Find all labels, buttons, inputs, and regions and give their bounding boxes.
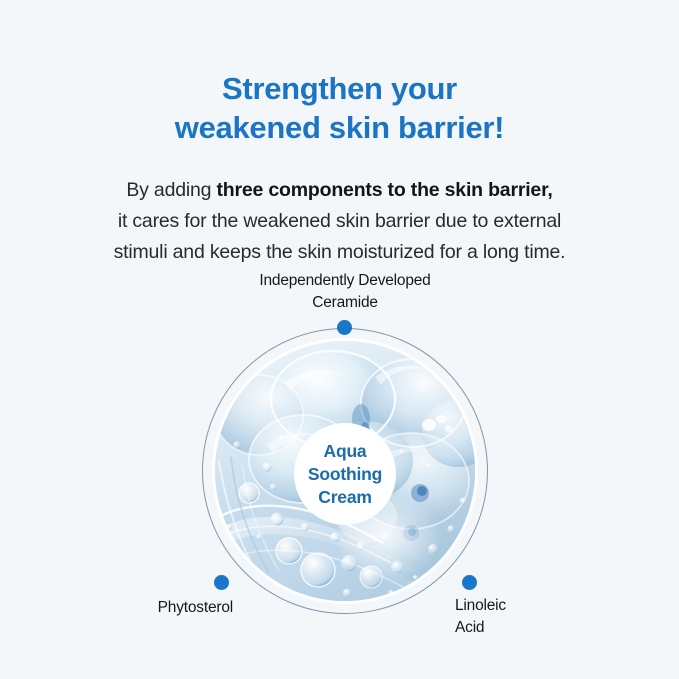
headline-line-2: weakened skin barrier!	[0, 108, 679, 147]
ingredient-diagram: Aqua Soothing Cream Independently Develo…	[0, 250, 679, 679]
connector-dot-phytosterol	[214, 575, 229, 590]
callout-linoleic-acid-line-2: Acid	[455, 617, 605, 639]
promo-page: Strengthen your weakened skin barrier! B…	[0, 0, 679, 679]
connector-dot-ceramide	[337, 320, 352, 335]
product-name-disc: Aqua Soothing Cream	[294, 423, 396, 525]
callout-ceramide-line-2: Ceramide	[205, 292, 485, 314]
product-name-line-2: Soothing	[308, 463, 382, 486]
connector-dot-linoleic-acid	[462, 575, 477, 590]
product-name-line-3: Cream	[318, 486, 371, 509]
body-line-1: By adding three components to the skin b…	[0, 175, 679, 206]
callout-linoleic-acid-line-1: Linoleic	[455, 595, 605, 617]
body-line-1-prefix: By adding	[126, 179, 216, 201]
callout-ceramide-line-1: Independently Developed	[205, 270, 485, 292]
product-name-line-1: Aqua	[324, 440, 367, 463]
body-line-2: it cares for the weakened skin barrier d…	[0, 206, 679, 237]
headline-line-1: Strengthen your	[0, 69, 679, 108]
body-line-1-emphasis: three components to the skin barrier,	[217, 179, 553, 201]
callout-phytosterol-line-1: Phytosterol	[78, 597, 233, 619]
callout-linoleic-acid: Linoleic Acid	[455, 595, 605, 639]
callout-phytosterol: Phytosterol	[78, 597, 233, 619]
callout-ceramide: Independently Developed Ceramide	[205, 270, 485, 314]
page-title: Strengthen your weakened skin barrier!	[0, 69, 679, 147]
